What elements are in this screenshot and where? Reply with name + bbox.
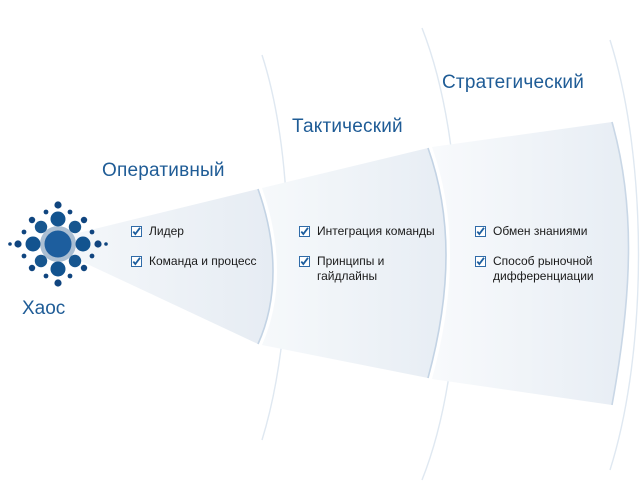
checked-checkbox-icon: [475, 256, 486, 267]
list-item-label: Команда и процесс: [149, 254, 257, 269]
list-item-label: Обмен знаниями: [493, 224, 587, 239]
stage-title-tactical: Тактический: [292, 116, 403, 138]
bullet-list-operational: Лидер Команда и процесс: [131, 224, 281, 284]
list-item-label: Интеграция команды: [317, 224, 435, 239]
bullet-list-tactical: Интеграция команды Принципы и гайдлайны: [299, 224, 457, 299]
list-item-label: Принципы и гайдлайны: [317, 254, 409, 284]
checked-checkbox-icon: [131, 256, 142, 267]
list-item: Способ рыночной дифференциации: [475, 254, 625, 284]
diagram-canvas: Хаос Оперативный Тактический Стратегичес…: [0, 0, 640, 500]
chaos-label: Хаос: [22, 298, 65, 320]
list-item: Принципы и гайдлайны: [299, 254, 457, 284]
radial-burst-dots-icon: [8, 196, 108, 292]
list-item-label: Способ рыночной дифференциации: [493, 254, 613, 284]
list-item: Обмен знаниями: [475, 224, 625, 239]
bullet-list-strategic: Обмен знаниями Способ рыночной дифференц…: [475, 224, 625, 299]
list-item: Интеграция команды: [299, 224, 457, 239]
stage-title-strategic: Стратегический: [442, 72, 584, 94]
list-item-label: Лидер: [149, 224, 184, 239]
list-item: Команда и процесс: [131, 254, 281, 269]
checked-checkbox-icon: [475, 226, 486, 237]
stage-title-operational: Оперативный: [102, 160, 225, 182]
list-item: Лидер: [131, 224, 281, 239]
checked-checkbox-icon: [299, 226, 310, 237]
checked-checkbox-icon: [131, 226, 142, 237]
checked-checkbox-icon: [299, 256, 310, 267]
